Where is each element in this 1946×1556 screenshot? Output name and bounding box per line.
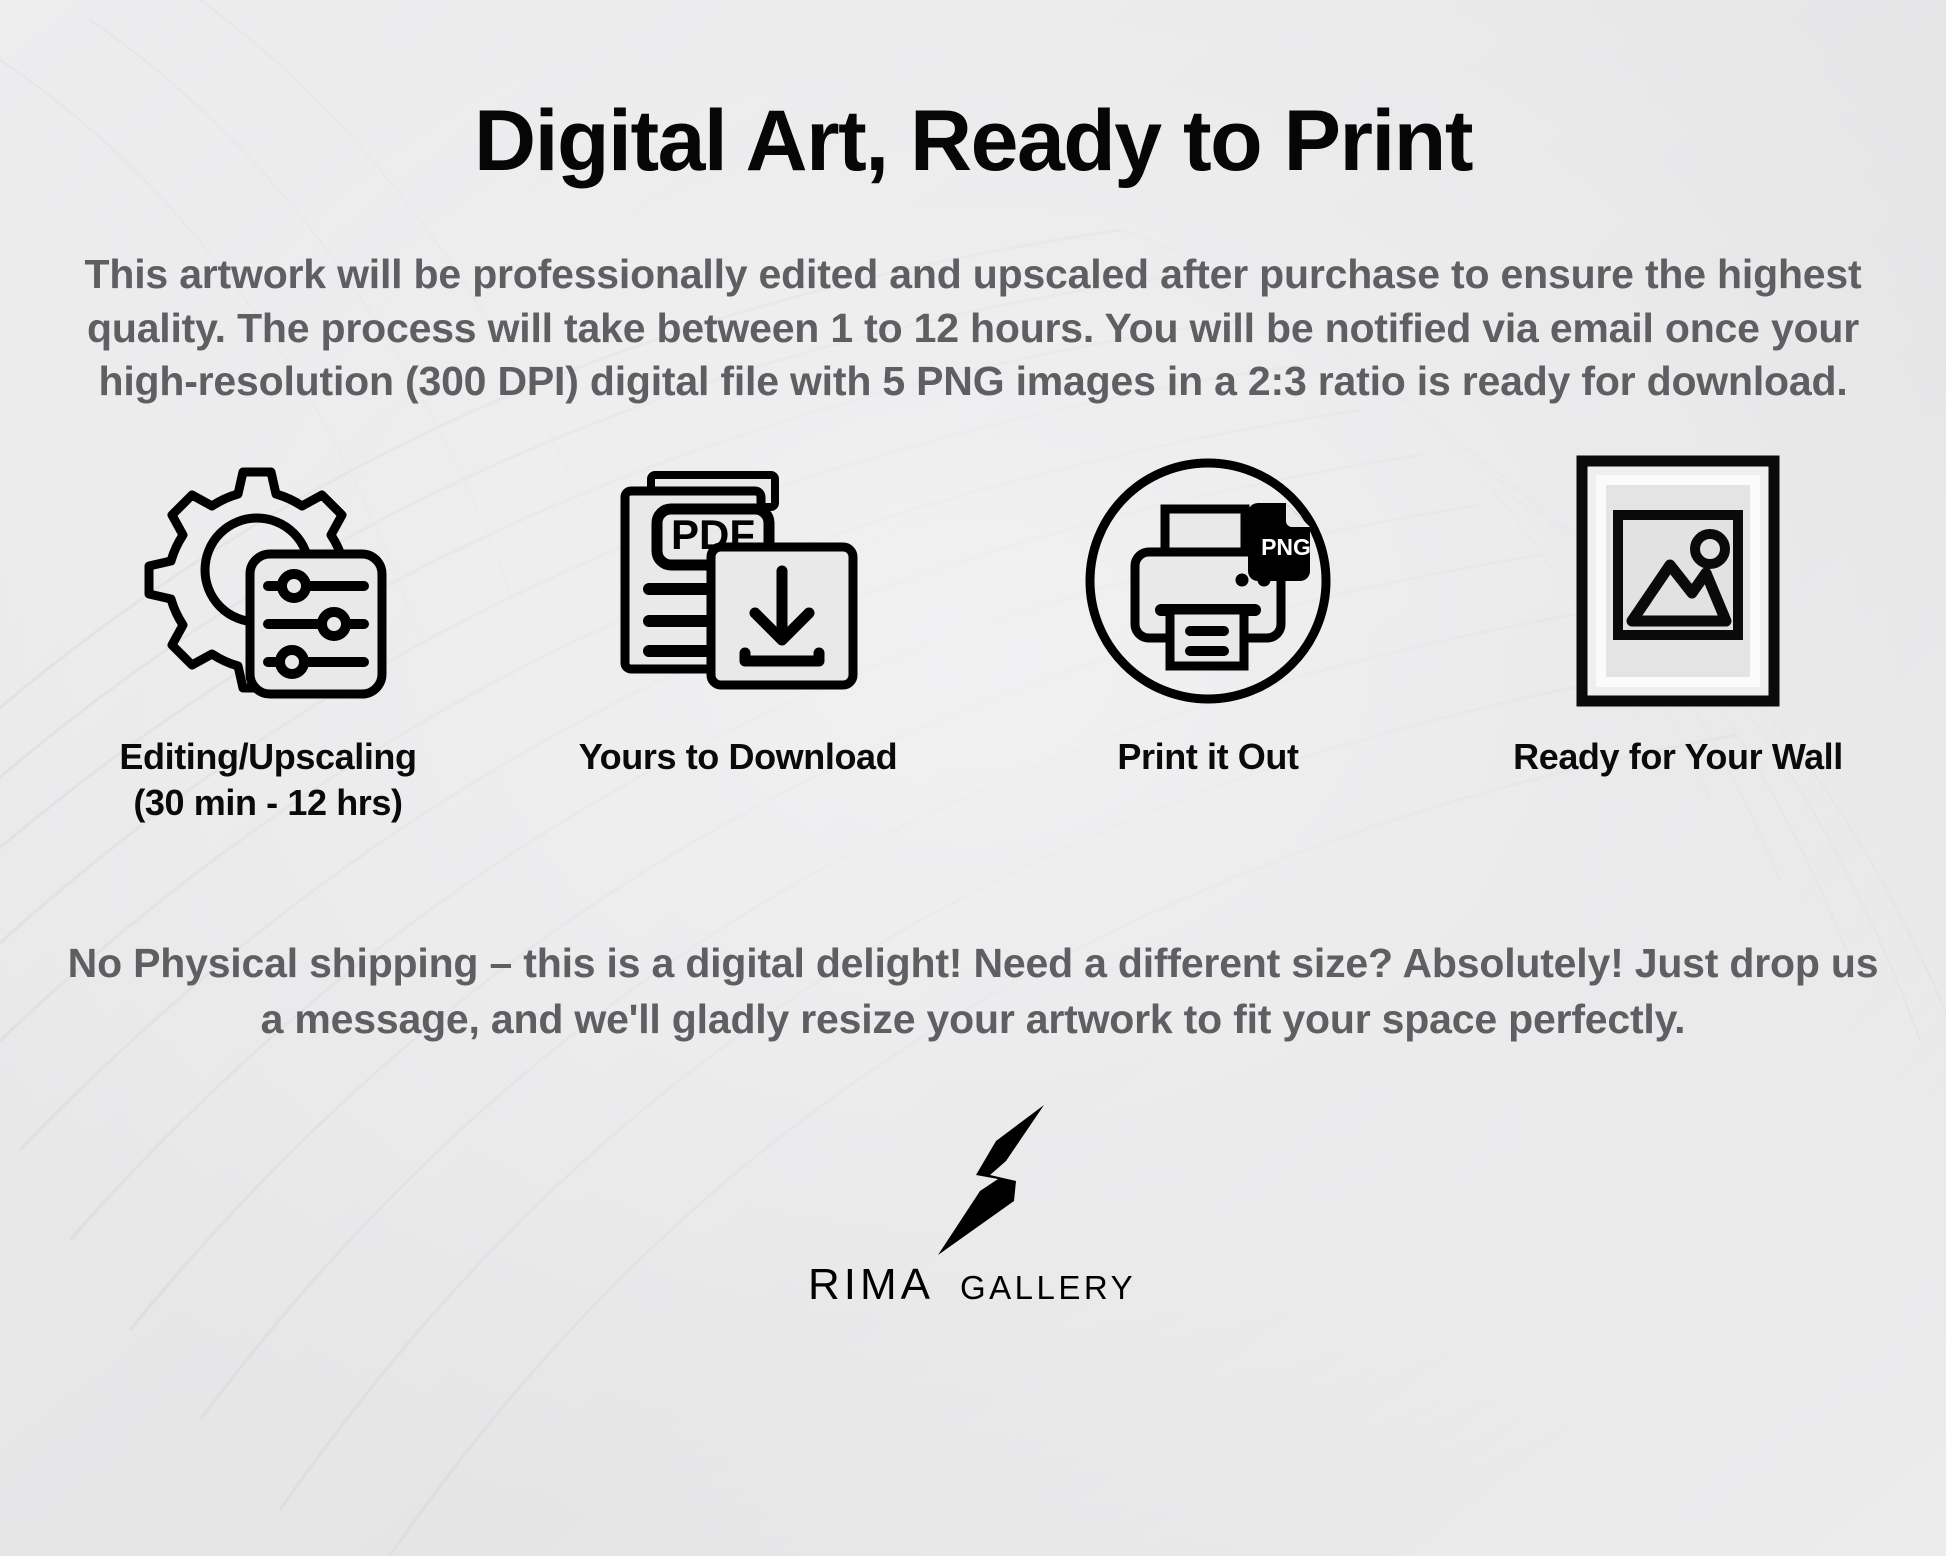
outro-paragraph: No Physical shipping – this is a digital… — [58, 936, 1888, 1047]
feature-label-wall: Ready for Your Wall — [1513, 734, 1843, 780]
framed-picture-icon — [1574, 450, 1782, 712]
feature-item-print: PNG Print it Out — [973, 450, 1443, 780]
brand-logo: RIMA GALLERY — [808, 1105, 1138, 1313]
page-title: Digital Art, Ready to Print — [474, 96, 1472, 186]
feature-label-download: Yours to Download — [579, 734, 898, 780]
rima-swoosh-mark — [858, 1105, 1088, 1255]
feature-item-download: PDF Yours to Download — [503, 450, 973, 780]
feature-item-wall: Ready for Your Wall — [1443, 450, 1913, 780]
logo-name-secondary: GALLERY — [960, 1269, 1136, 1306]
printer-png-icon: PNG — [1082, 450, 1334, 712]
feature-item-editing: Editing/Upscaling (30 min - 12 hrs) — [33, 450, 503, 826]
pdf-download-icon: PDF — [613, 450, 863, 712]
png-badge-label: PNG — [1261, 534, 1311, 560]
intro-paragraph: This artwork will be professionally edit… — [58, 248, 1888, 408]
logo-wordmark: RIMA GALLERY — [808, 1257, 1138, 1313]
gear-sliders-icon — [142, 450, 394, 712]
feature-row: Editing/Upscaling (30 min - 12 hrs) PDF — [33, 450, 1913, 826]
promo-graphic: Digital Art, Ready to Print This artwork… — [0, 0, 1946, 1556]
feature-label-print: Print it Out — [1117, 734, 1298, 780]
feature-label-editing: Editing/Upscaling (30 min - 12 hrs) — [119, 734, 416, 826]
logo-name-primary: RIMA — [808, 1260, 934, 1309]
